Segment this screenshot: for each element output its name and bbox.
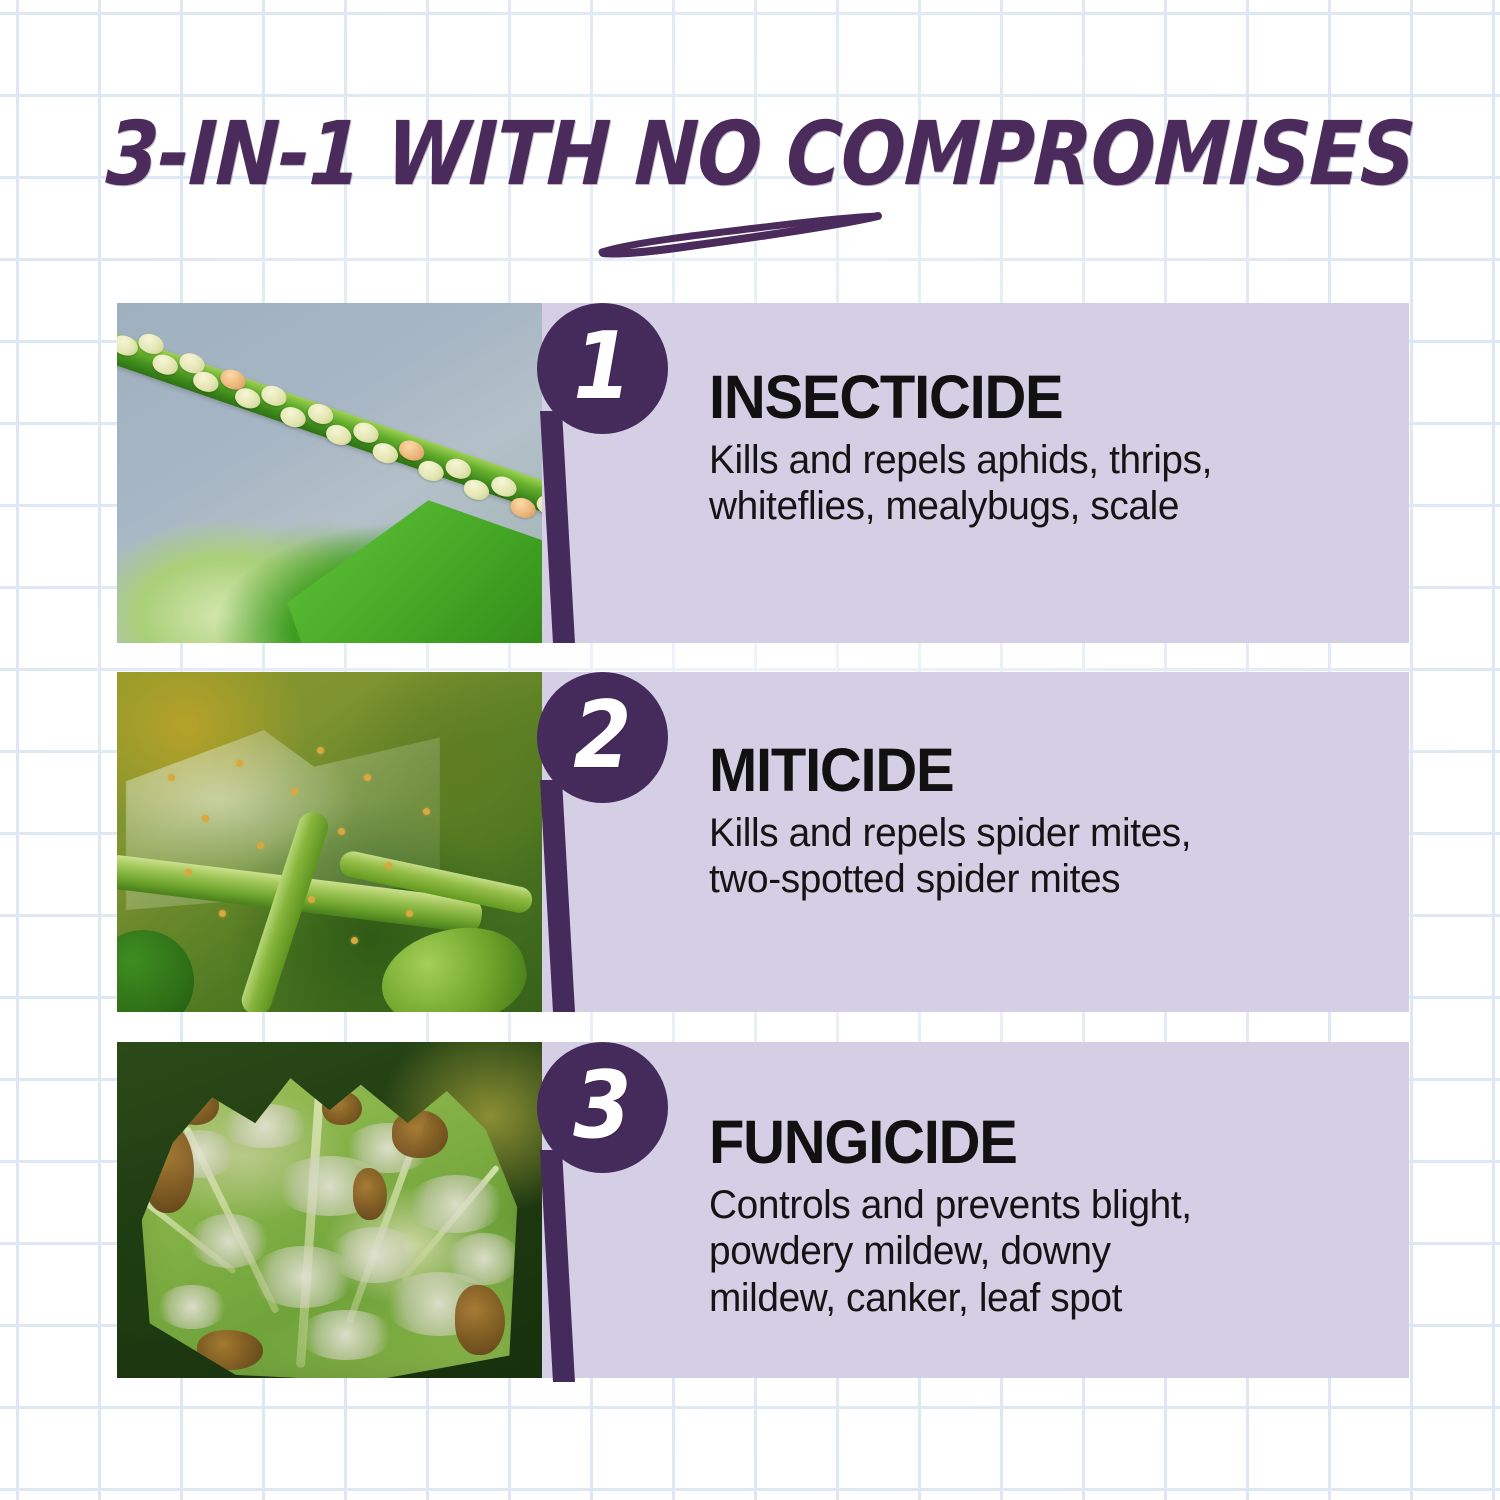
- feature-description: Controls and prevents blight, powdery mi…: [709, 1182, 1378, 1321]
- page-title: 3-IN-1 WITH NO COMPROMISES: [104, 108, 1416, 200]
- feature-description-line: Kills and repels aphids, thrips,: [709, 437, 1378, 483]
- infographic-stage: 3-IN-1 WITH NO COMPROMISES: [0, 0, 1500, 1500]
- feature-description-line: mildew, canker, leaf spot: [709, 1275, 1378, 1321]
- grape-leaf-shape: [134, 1059, 525, 1378]
- feature-row-miticide: 2 MITICIDE Kills and repels spider mites…: [117, 672, 1409, 1012]
- feature-copy-miticide: MITICIDE Kills and repels spider mites, …: [709, 740, 1399, 903]
- feature-copy-fungicide: FUNGICIDE Controls and prevents blight, …: [709, 1112, 1399, 1321]
- feature-row-insecticide: 1 INSECTICIDE Kills and repels aphids, t…: [117, 303, 1409, 643]
- aphid-cluster: [117, 315, 542, 528]
- feature-description-line: Kills and repels spider mites,: [709, 810, 1378, 856]
- feature-title: MITICIDE: [709, 740, 1365, 801]
- leaf-bud-shape: [117, 930, 194, 1012]
- aphids-on-stem-photo: [117, 303, 542, 643]
- feature-description-line: Controls and prevents blight,: [709, 1182, 1378, 1228]
- feature-description-line: powdery mildew, downy: [709, 1228, 1378, 1274]
- headline-block: 3-IN-1 WITH NO COMPROMISES: [0, 108, 1500, 200]
- feature-copy-insecticide: INSECTICIDE Kills and repels aphids, thr…: [709, 367, 1399, 530]
- feature-description-line: whiteflies, mealybugs, scale: [709, 483, 1378, 529]
- feature-description: Kills and repels spider mites, two-spott…: [709, 810, 1378, 903]
- feature-description-line: two-spotted spider mites: [709, 856, 1378, 902]
- green-leaf-shape: [287, 500, 542, 643]
- feature-title: FUNGICIDE: [709, 1112, 1365, 1173]
- spider-mite-webbing-photo: [117, 672, 542, 1012]
- feature-title: INSECTICIDE: [709, 367, 1365, 428]
- feature-description: Kills and repels aphids, thrips, whitefl…: [709, 437, 1378, 530]
- feature-row-fungicide: 3 FUNGICIDE Controls and prevents blight…: [117, 1042, 1409, 1378]
- powdery-mildew-leaf-photo: [117, 1042, 542, 1378]
- pen-swoosh-underline-icon: [594, 208, 884, 262]
- leaf-bud-shape: [371, 914, 534, 1012]
